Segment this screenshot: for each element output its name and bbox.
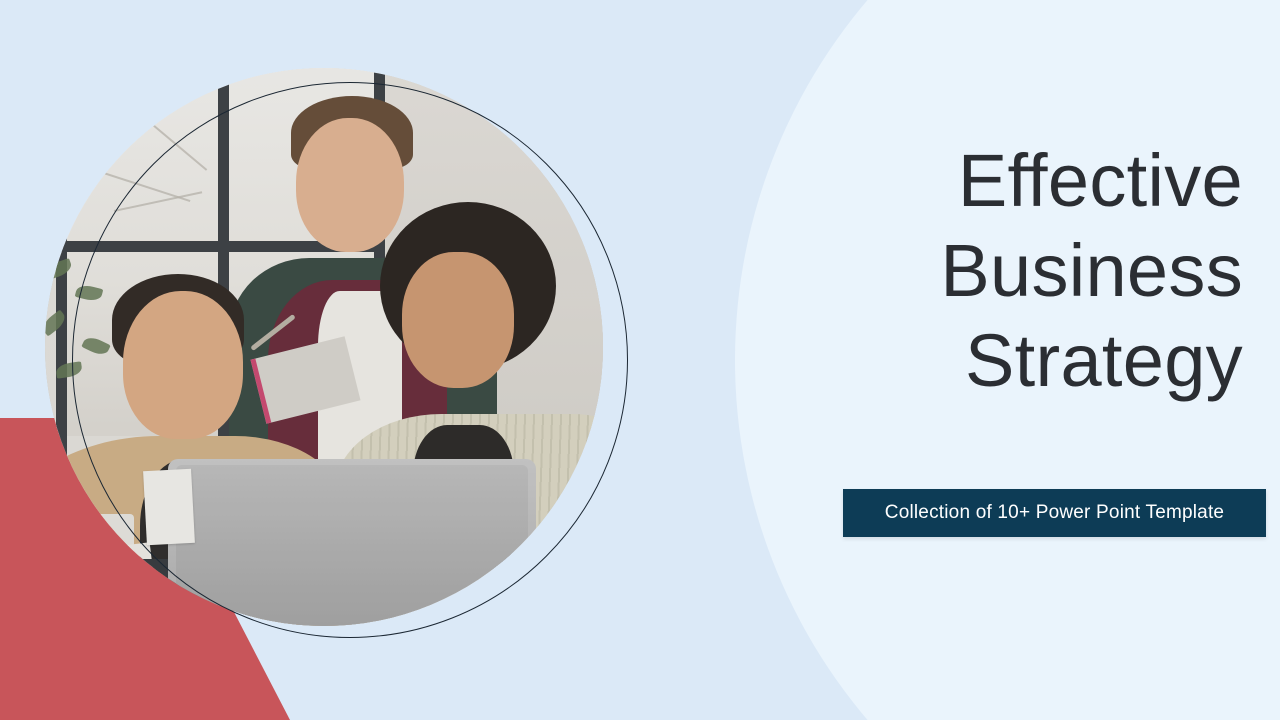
photo-color-tone <box>45 68 603 626</box>
presentation-slide: Effective Business Strategy Collection o… <box>0 0 1280 720</box>
page-title: Effective Business Strategy <box>823 136 1243 406</box>
subtitle-banner: Collection of 10+ Power Point Template <box>843 489 1266 537</box>
photo-scene <box>45 68 603 626</box>
title-line-3: Strategy <box>823 316 1243 406</box>
title-line-1: Effective <box>823 136 1243 226</box>
title-line-2: Business <box>823 226 1243 316</box>
team-photo <box>45 68 603 626</box>
subtitle-text: Collection of 10+ Power Point Template <box>885 502 1224 524</box>
